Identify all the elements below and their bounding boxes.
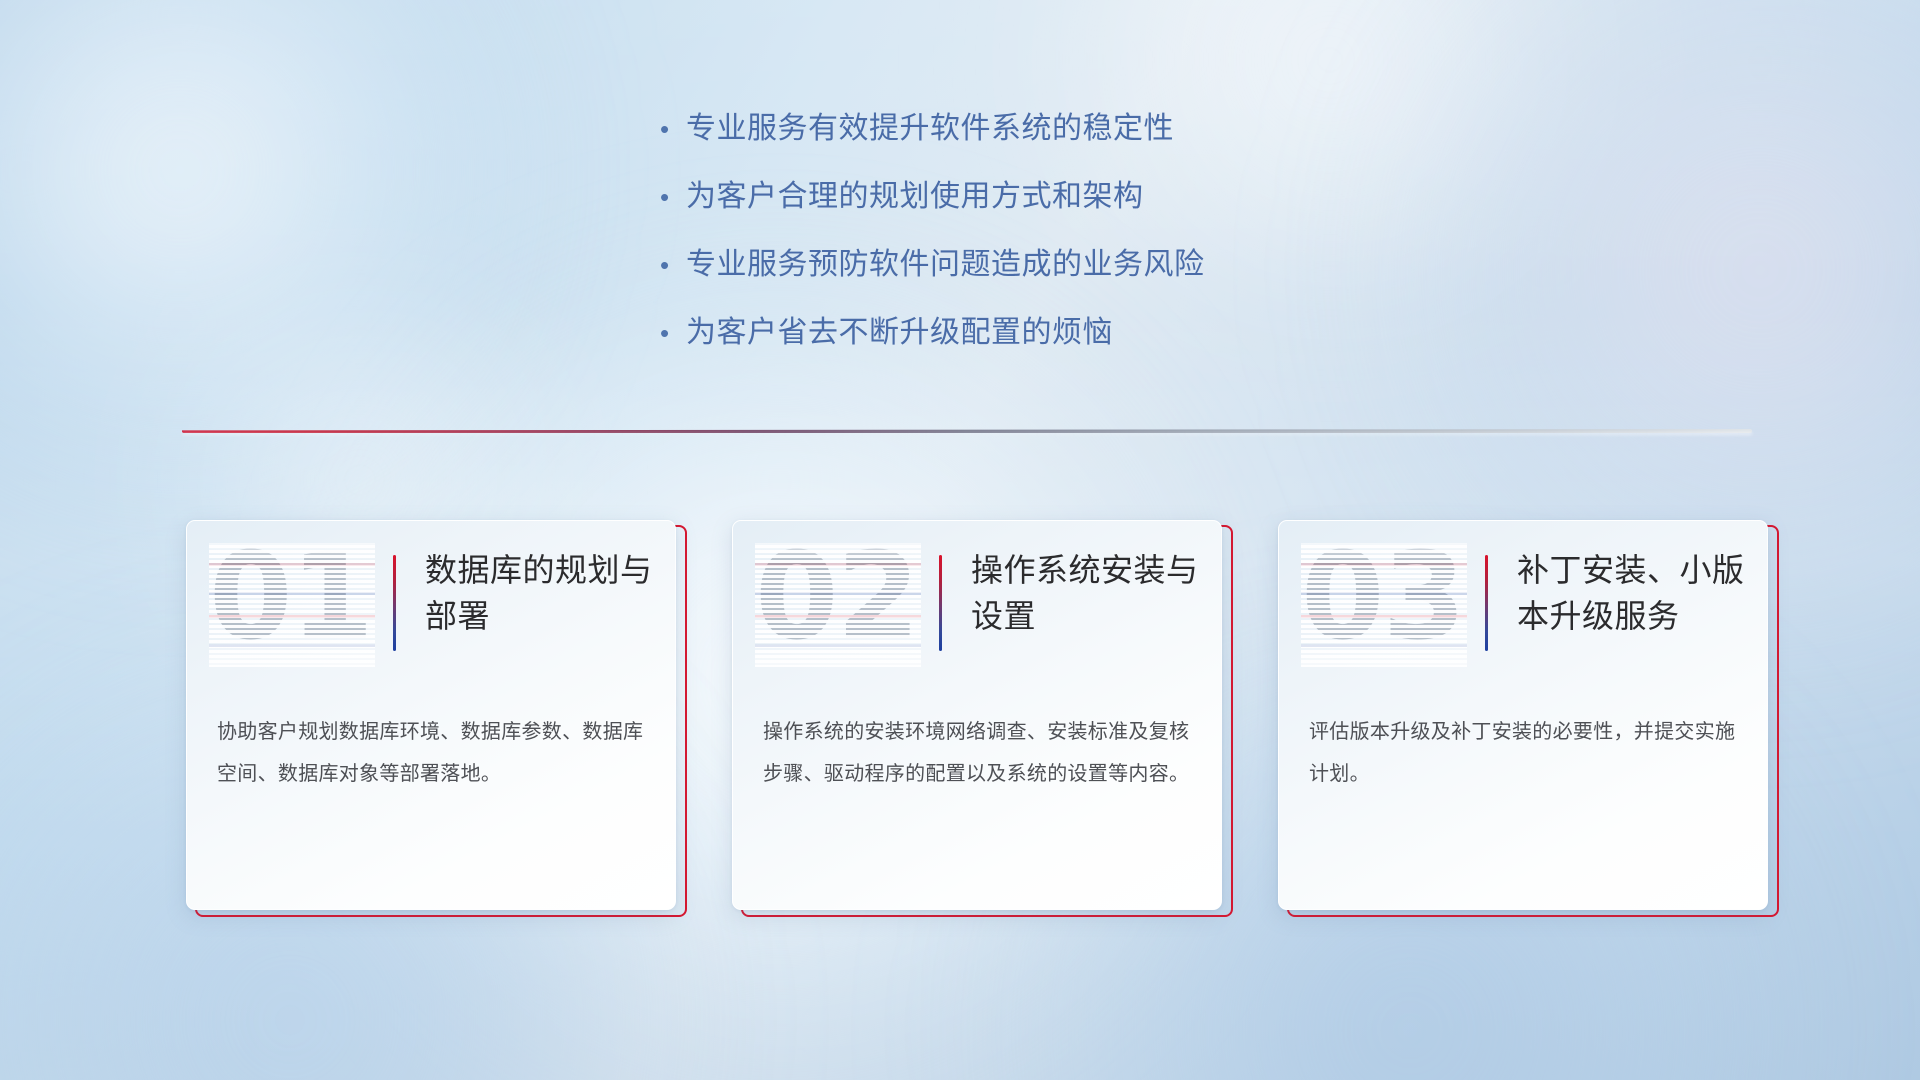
list-item: • 为客户省去不断升级配置的烦恼 xyxy=(660,314,1480,352)
card-divider-bar xyxy=(1485,555,1488,651)
card-number-watermark: 01 xyxy=(209,543,375,667)
card-surface: 01 数据库的规划与部署 协助客户规划数据库环境、数据库参数、数据库空间、数据库… xyxy=(186,520,676,910)
card-header: 01 数据库的规划与部署 xyxy=(187,521,675,687)
card-title: 操作系统安装与设置 xyxy=(971,547,1203,639)
bullet-text: 专业服务预防软件问题造成的业务风险 xyxy=(686,246,1205,284)
bullet-list: • 专业服务有效提升软件系统的稳定性 • 为客户合理的规划使用方式和架构 • 专… xyxy=(660,110,1480,352)
card-divider-bar xyxy=(939,555,942,651)
card-divider-bar xyxy=(393,555,396,651)
bullet-text: 为客户省去不断升级配置的烦恼 xyxy=(686,314,1113,352)
card-body-text: 评估版本升级及补丁安装的必要性，并提交实施计划。 xyxy=(1309,711,1739,795)
card-body-text: 协助客户规划数据库环境、数据库参数、数据库空间、数据库对象等部署落地。 xyxy=(217,711,647,795)
bullet-text: 专业服务有效提升软件系统的稳定性 xyxy=(686,110,1174,148)
card-body-text: 操作系统的安装环境网络调查、安装标准及复核步骤、驱动程序的配置以及系统的设置等内… xyxy=(763,711,1193,795)
bullet-text: 为客户合理的规划使用方式和架构 xyxy=(686,178,1144,216)
list-item: • 为客户合理的规划使用方式和架构 xyxy=(660,178,1480,216)
card-header: 03 补丁安装、小版本升级服务 xyxy=(1279,521,1767,687)
section-divider xyxy=(182,425,1752,437)
card-group: 01 数据库的规划与部署 协助客户规划数据库环境、数据库参数、数据库空间、数据库… xyxy=(186,520,1766,908)
card-surface: 02 操作系统安装与设置 操作系统的安装环境网络调查、安装标准及复核步骤、驱动程… xyxy=(732,520,1222,910)
card-title: 补丁安装、小版本升级服务 xyxy=(1517,547,1749,639)
card-03[interactable]: 03 补丁安装、小版本升级服务 评估版本升级及补丁安装的必要性，并提交实施计划。 xyxy=(1278,520,1766,908)
card-number-text: 02 xyxy=(755,543,918,667)
bullet-marker-icon: • xyxy=(660,246,686,284)
card-number-text: 01 xyxy=(209,543,372,667)
list-item: • 专业服务有效提升软件系统的稳定性 xyxy=(660,110,1480,148)
card-header: 02 操作系统安装与设置 xyxy=(733,521,1221,687)
bullet-marker-icon: • xyxy=(660,314,686,352)
card-number-watermark: 02 xyxy=(755,543,921,667)
bullet-marker-icon: • xyxy=(660,110,686,148)
card-02[interactable]: 02 操作系统安装与设置 操作系统的安装环境网络调查、安装标准及复核步骤、驱动程… xyxy=(732,520,1220,908)
card-number-watermark: 03 xyxy=(1301,543,1467,667)
divider-sheen xyxy=(182,432,1752,435)
bullet-marker-icon: • xyxy=(660,178,686,216)
card-number-text: 03 xyxy=(1301,543,1464,667)
card-01[interactable]: 01 数据库的规划与部署 协助客户规划数据库环境、数据库参数、数据库空间、数据库… xyxy=(186,520,674,908)
card-surface: 03 补丁安装、小版本升级服务 评估版本升级及补丁安装的必要性，并提交实施计划。 xyxy=(1278,520,1768,910)
card-title: 数据库的规划与部署 xyxy=(425,547,657,639)
list-item: • 专业服务预防软件问题造成的业务风险 xyxy=(660,246,1480,284)
